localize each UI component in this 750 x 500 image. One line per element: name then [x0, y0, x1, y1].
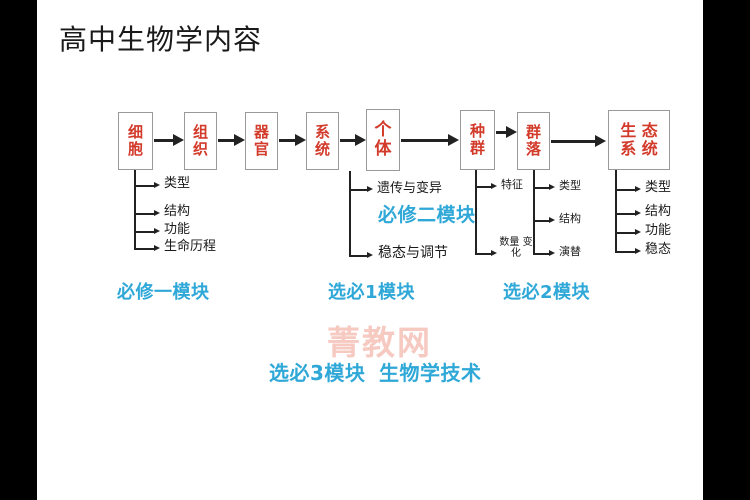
cell-branch-line-4: [134, 248, 156, 250]
node-tissue: 组 织: [184, 112, 217, 170]
node-population-line-1: 种: [470, 123, 485, 140]
node-system-line-1: 系: [315, 124, 330, 141]
community-branch-spine: [533, 170, 535, 254]
community-branch-arrow-2: [549, 217, 555, 223]
population-leaf-count-change: 数量 变化: [499, 238, 533, 259]
organism-leaf-heredity: 遗传与变异: [377, 182, 442, 196]
module-label-elective-1: 选必1模块: [328, 278, 415, 304]
cell-branch-line-3: [134, 231, 156, 233]
cell-leaf-life-course: 生命历程: [164, 240, 216, 254]
organism-branch-spine: [349, 171, 351, 255]
arrow-cell-to-tissue-head: [173, 134, 184, 146]
arrow-tissue-to-organ-head: [234, 134, 245, 146]
arrow-population-to-community-head: [506, 126, 517, 138]
ecosystem-branch-arrow-1: [635, 186, 641, 192]
arrow-system-to-organism-line: [340, 139, 356, 142]
node-system-line-2: 统: [315, 141, 330, 158]
module-label-elective-3: 选必3模块: [269, 357, 365, 386]
ecosystem-branch-spine: [615, 170, 617, 252]
node-tissue-line-2: 织: [193, 141, 208, 158]
community-leaf-succession: 演替: [559, 246, 581, 258]
module-label-elective-2: 选必2模块: [503, 278, 590, 304]
arrow-system-to-organism-head: [355, 134, 366, 146]
arrow-community-to-ecosystem-head: [595, 135, 606, 147]
organism-branch-arrow-1: [367, 186, 373, 192]
node-ecosystem-line-2: 系 统: [620, 140, 658, 158]
node-organ: 器 官: [245, 112, 278, 170]
node-organ-line-2: 官: [254, 141, 269, 158]
ecosystem-branch-arrow-4: [635, 248, 641, 254]
ecosystem-leaf-type: 类型: [645, 181, 671, 195]
ecosystem-leaf-function: 功能: [645, 224, 671, 238]
arrow-cell-to-tissue-line: [154, 139, 175, 142]
cell-leaf-structure: 结构: [164, 205, 190, 219]
slide-content: 高中生物学内容 细 胞 组 织 器 官 系 统: [37, 0, 703, 500]
cell-branch-line-1: [134, 185, 156, 187]
ecosystem-branch-arrow-2: [635, 210, 641, 216]
cell-branch-line-2: [134, 213, 156, 215]
cell-branch-arrow-3: [154, 228, 160, 234]
ecosystem-branch-line-4: [615, 251, 637, 253]
population-branch-spine: [475, 170, 477, 254]
arrow-organism-to-population-head: [448, 134, 459, 146]
node-community-line-2: 落: [526, 141, 541, 158]
community-leaf-structure: 结构: [559, 213, 581, 225]
node-cell-line-1: 细: [128, 124, 143, 141]
ecosystem-branch-line-3: [615, 232, 637, 234]
ecosystem-branch-arrow-3: [635, 229, 641, 235]
ecosystem-leaf-homeostasis: 稳态: [645, 243, 671, 257]
organism-branch-line-1: [349, 189, 369, 191]
arrow-tissue-to-organ-line: [218, 139, 235, 142]
node-population: 种 群: [460, 110, 495, 170]
module-label-compulsory-1: 必修一模块: [117, 278, 210, 304]
node-community: 群 落: [517, 112, 550, 170]
cell-branch-arrow-2: [154, 210, 160, 216]
node-organism: 个 体: [366, 109, 400, 171]
organism-branch-line-2: [349, 255, 369, 257]
arrow-organism-to-population-line: [401, 139, 449, 142]
cell-branch-spine: [134, 170, 136, 248]
community-leaf-type: 类型: [559, 180, 581, 192]
organism-leaf-homeostasis: 稳态与调节: [378, 246, 448, 261]
node-community-line-1: 群: [526, 124, 541, 141]
node-organism-line-2: 体: [375, 140, 392, 159]
node-cell-line-2: 胞: [128, 141, 143, 158]
ecosystem-branch-line-1: [615, 189, 637, 191]
node-system: 系 统: [306, 112, 339, 170]
arrow-organ-to-system-line: [279, 139, 296, 142]
population-branch-arrow-1: [491, 183, 497, 189]
arrow-community-to-ecosystem-line: [551, 140, 597, 143]
ecosystem-branch-line-2: [615, 213, 637, 215]
node-organ-line-1: 器: [254, 124, 269, 141]
node-organism-line-1: 个: [375, 121, 392, 140]
community-branch-arrow-1: [549, 184, 555, 190]
cell-leaf-function: 功能: [164, 223, 190, 237]
node-ecosystem-line-1: 生 态: [620, 122, 658, 140]
letterbox-right: [703, 0, 750, 500]
node-ecosystem: 生 态 系 统: [608, 110, 670, 170]
module-label-compulsory-2: 必修二模块: [378, 200, 476, 227]
page-title: 高中生物学内容: [59, 18, 262, 58]
cell-branch-arrow-1: [154, 182, 160, 188]
organism-branch-arrow-2: [367, 252, 373, 258]
node-population-line-2: 群: [470, 140, 485, 157]
footer-biotech-label: 生物学技术: [379, 357, 482, 386]
population-leaf-traits: 特征: [501, 179, 523, 191]
community-branch-arrow-3: [549, 250, 555, 256]
node-tissue-line-1: 组: [193, 124, 208, 141]
population-leaf-count-change-line-1: 数量: [499, 237, 519, 248]
letterbox-left: [0, 0, 37, 500]
cell-leaf-type: 类型: [164, 177, 190, 191]
arrow-organ-to-system-head: [295, 134, 306, 146]
population-branch-arrow-2: [491, 250, 497, 256]
ecosystem-leaf-structure: 结构: [645, 205, 671, 219]
node-cell: 细 胞: [118, 112, 153, 170]
slide-canvas: 高中生物学内容 细 胞 组 织 器 官 系 统: [0, 0, 750, 500]
cell-branch-arrow-4: [154, 245, 160, 251]
